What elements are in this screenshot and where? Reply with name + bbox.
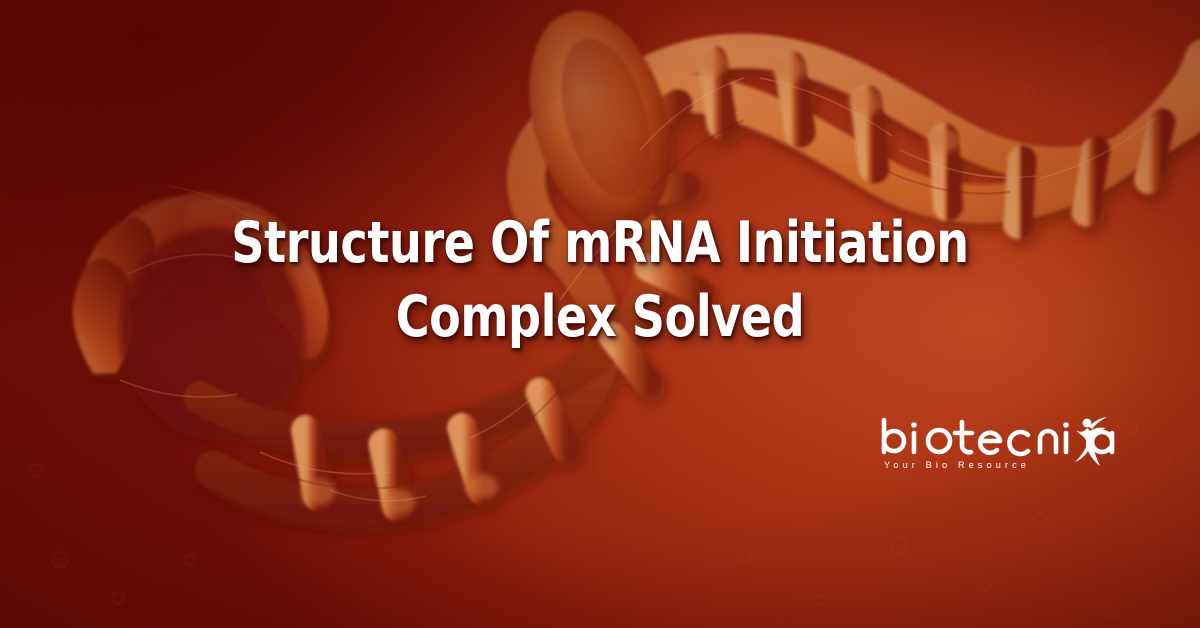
- page-title: Structure Of mRNA Initiation Complex Sol…: [0, 206, 1200, 354]
- title-line-1: Structure Of mRNA Initiation: [96, 206, 1104, 280]
- logo-tagline: Your Bio Resource: [884, 460, 1030, 470]
- article-banner: Structure Of mRNA Initiation Complex Sol…: [0, 0, 1200, 628]
- biotecnika-logo[interactable]: Your Bio Resource: [876, 414, 1122, 476]
- dancing-human-figure-icon: [1075, 417, 1107, 466]
- title-line-2: Complex Solved: [96, 280, 1104, 354]
